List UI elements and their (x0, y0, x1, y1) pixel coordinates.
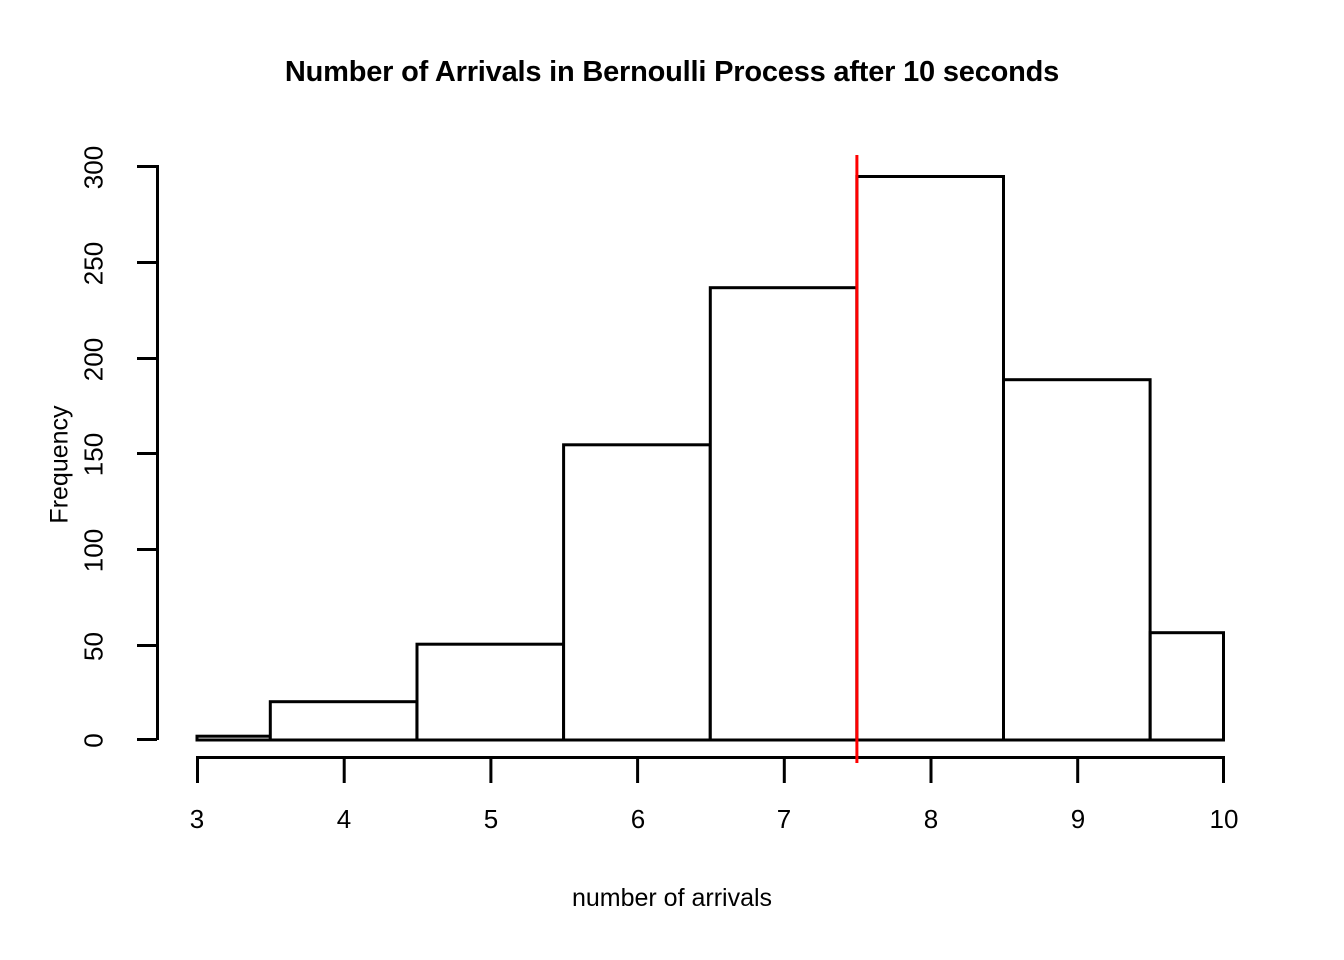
bar-5.5-6.5 (564, 445, 711, 740)
y-tick-label-0: 0 (79, 721, 110, 761)
x-tick-label-9: 9 (1048, 804, 1108, 835)
y-tick-label-250: 250 (79, 234, 110, 294)
bar-9.5-10.0 (1150, 633, 1223, 740)
bar-3.0-3.5 (197, 736, 270, 740)
bar-4.5-5.5 (417, 644, 564, 740)
x-tick-label-3: 3 (167, 804, 227, 835)
x-tick-label-7: 7 (754, 804, 814, 835)
y-tick-label-300: 300 (79, 138, 110, 198)
plot-canvas: Number of Arrivals in Bernoulli Process … (0, 0, 1344, 960)
y-tick-label-100: 100 (79, 521, 110, 581)
y-tick-label-200: 200 (79, 330, 110, 390)
x-tick-label-10: 10 (1189, 804, 1259, 835)
x-tick-label-6: 6 (608, 804, 668, 835)
bar-3.5-4.5 (270, 702, 417, 740)
y-tick-label-150: 150 (79, 425, 110, 485)
bar-6.5-7.5 (710, 288, 857, 740)
bar-8.5-9.5 (1004, 380, 1151, 740)
y-tick-label-50: 50 (79, 622, 110, 672)
bar-7.5-8.5 (857, 177, 1004, 741)
x-tick-label-8: 8 (901, 804, 961, 835)
x-axis-label: number of arrivals (0, 884, 1344, 913)
x-tick-label-4: 4 (314, 804, 374, 835)
x-tick-label-5: 5 (461, 804, 521, 835)
histogram-bars (197, 177, 1224, 741)
